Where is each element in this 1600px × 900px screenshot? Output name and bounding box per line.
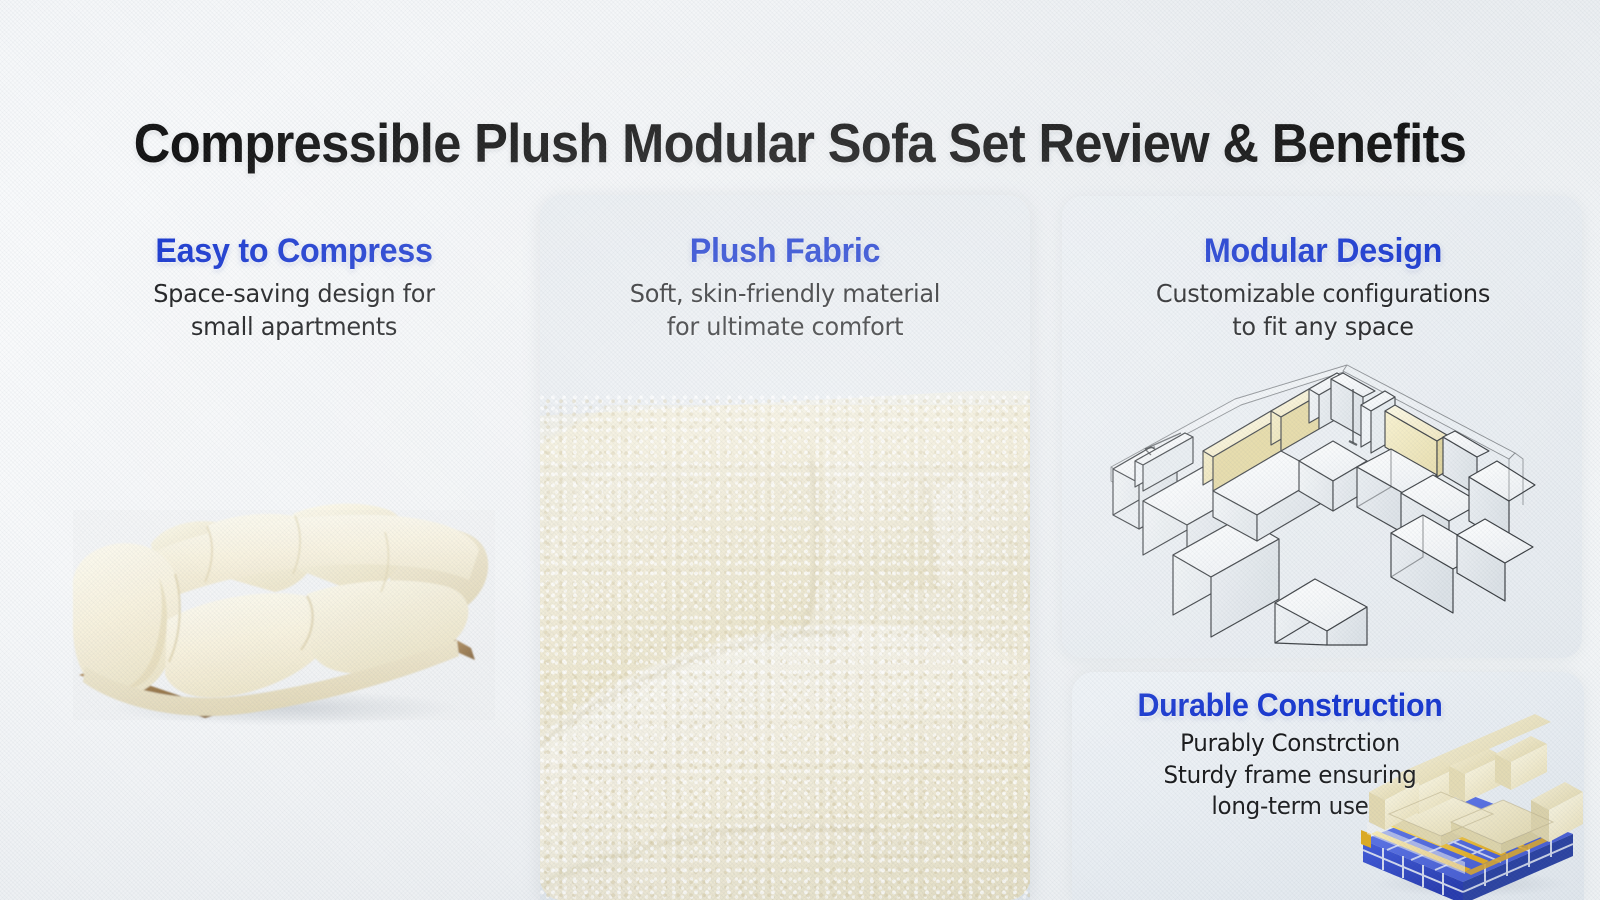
feature-block-plush-fabric: Plush Fabric Soft, skin-friendly materia… [545,232,1025,343]
feature-body-line: Purably Constrction [1088,728,1491,760]
feature-heading-modular-design: Modular Design [1081,232,1566,270]
feature-body-line: long-term use [1088,791,1491,823]
feature-heading-plush-fabric: Plush Fabric [557,232,1013,270]
boucle-sofa-image [55,470,515,730]
feature-body-plush-fabric: Soft, skin-friendly material for ultimat… [555,277,1016,343]
feature-body-line: Customizable configurations [1078,277,1568,310]
isometric-modular-layout-diagram [1085,355,1535,645]
feature-body-line: small apartments [69,310,518,343]
feature-body-durable-construction: Purably Constrction Sturdy frame ensurin… [1088,728,1491,823]
feature-body-easy-to-compress: Space-saving design for small apartments [69,277,518,343]
feature-block-modular-design: Modular Design Customizable configuratio… [1068,232,1578,343]
feature-body-line: Soft, skin-friendly material [555,277,1016,310]
feature-heading-durable-construction: Durable Construction [1091,688,1490,724]
feature-block-easy-to-compress: Easy to Compress Space-saving design for… [60,232,528,343]
feature-body-line: Sturdy frame ensuring [1088,760,1491,792]
feature-body-line: Space-saving design for [69,277,518,310]
feature-body-line: to fit any space [1078,310,1568,343]
page-title: Compressible Plush Modular Sofa Set Revi… [64,111,1536,175]
feature-body-modular-design: Customizable configurations to fit any s… [1078,277,1568,343]
feature-block-durable-construction: Durable Construction Purably Constrction… [1080,688,1500,823]
feature-body-line: for ultimate comfort [555,310,1016,343]
infographic-canvas: Compressible Plush Modular Sofa Set Revi… [0,0,1600,900]
feature-heading-easy-to-compress: Easy to Compress [72,232,517,270]
